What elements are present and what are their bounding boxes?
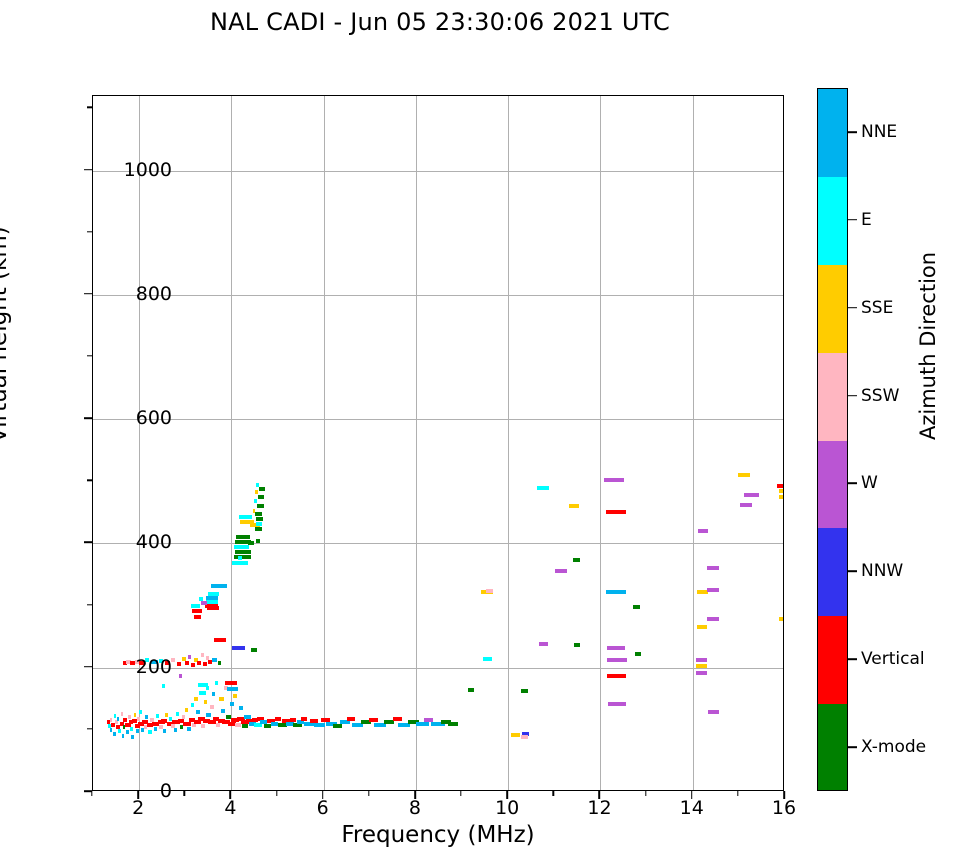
data-mark-x-mode xyxy=(333,724,342,728)
data-mark-w xyxy=(604,478,623,482)
data-mark-e xyxy=(198,683,208,687)
data-mark-x-mode xyxy=(635,652,641,656)
data-mark-vertical xyxy=(185,661,189,665)
x-tick-minor xyxy=(460,791,461,796)
data-mark-e xyxy=(176,712,179,716)
colorbar-segment-w[interactable] xyxy=(818,441,847,529)
data-mark-nne xyxy=(196,710,200,714)
x-tick-mark xyxy=(322,791,324,799)
data-mark-x-mode xyxy=(235,550,251,554)
data-mark-vertical xyxy=(194,615,200,619)
data-mark-sse xyxy=(185,708,188,712)
data-mark-e xyxy=(114,714,117,718)
x-tick-mark xyxy=(783,791,785,799)
y-tick-minor xyxy=(87,231,92,232)
colorbar-tick xyxy=(848,571,857,573)
data-mark-e xyxy=(256,483,259,487)
y-tick-minor xyxy=(87,107,92,108)
y-tick-mark xyxy=(84,666,92,668)
data-mark-nne xyxy=(117,717,120,721)
data-mark-e xyxy=(162,684,165,688)
data-mark-e xyxy=(139,710,142,714)
x-tick-mark xyxy=(137,791,139,799)
azimuth-colorbar[interactable] xyxy=(817,88,848,791)
data-mark-x-mode xyxy=(251,648,257,652)
data-mark-sse xyxy=(779,489,783,493)
colorbar-tick xyxy=(848,658,857,660)
data-mark-x-mode xyxy=(234,555,251,559)
colorbar-tick xyxy=(848,219,857,221)
y-tick-minor xyxy=(87,728,92,729)
data-mark-vertical xyxy=(777,484,783,488)
data-mark-e xyxy=(191,703,194,707)
data-mark-vertical xyxy=(183,722,190,726)
data-mark-x-mode xyxy=(255,512,261,516)
data-mark-sse xyxy=(511,733,520,737)
colorbar-segment-nne[interactable] xyxy=(818,89,847,177)
data-mark-vertical xyxy=(393,717,402,721)
y-tick-minor xyxy=(87,355,92,356)
data-mark-w xyxy=(744,493,759,497)
data-mark-x-mode xyxy=(259,487,265,491)
x-tick-label: 6 xyxy=(317,797,329,819)
data-mark-ssw xyxy=(201,653,204,657)
data-mark-e xyxy=(234,545,249,549)
data-mark-ssw xyxy=(486,589,492,593)
data-mark-sse xyxy=(255,490,258,494)
y-axis-label: Virtual height (km) xyxy=(0,226,12,443)
data-mark-e xyxy=(483,657,491,661)
data-mark-nne xyxy=(113,732,116,736)
data-mark-e xyxy=(148,730,151,734)
data-mark-e xyxy=(156,714,159,718)
colorbar-label-nne: NNE xyxy=(861,122,897,142)
data-mark-nne xyxy=(239,706,244,710)
data-mark-sse xyxy=(240,520,254,524)
data-mark-w xyxy=(555,569,567,573)
data-mark-sse xyxy=(779,617,783,621)
data-mark-sse xyxy=(165,713,168,717)
y-tick-label: 200 xyxy=(52,656,172,678)
data-mark-nne xyxy=(206,596,218,600)
data-mark-w xyxy=(539,642,548,646)
x-tick-minor xyxy=(553,791,554,796)
page-title: NAL CADI - Jun 05 23:30:06 2021 UTC xyxy=(0,8,880,36)
data-mark-x-mode xyxy=(248,541,254,545)
data-mark-ssw xyxy=(210,705,214,709)
x-tick-label: 10 xyxy=(495,797,519,819)
data-mark-ssw xyxy=(182,715,185,719)
x-tick-minor xyxy=(91,791,92,796)
data-mark-vertical xyxy=(347,717,355,721)
y-tick-label: 400 xyxy=(52,531,172,553)
data-mark-nne xyxy=(211,584,227,588)
data-mark-x-mode xyxy=(574,643,580,647)
data-mark-nne xyxy=(212,692,215,696)
data-mark-vertical xyxy=(208,720,215,724)
colorbar-label-x-mode: X-mode xyxy=(861,737,926,757)
data-mark-vertical xyxy=(369,718,378,722)
data-mark-x-mode xyxy=(242,724,248,728)
data-mark-x-mode xyxy=(573,558,580,562)
x-tick-label: 4 xyxy=(224,797,236,819)
data-mark-nne xyxy=(227,687,238,691)
data-mark-w xyxy=(740,503,752,507)
data-mark-e xyxy=(215,681,219,685)
x-tick-minor xyxy=(184,791,185,796)
data-mark-w xyxy=(698,529,708,533)
data-mark-ssw xyxy=(201,724,205,728)
data-mark-x-mode xyxy=(264,724,271,728)
data-mark-vertical xyxy=(192,609,202,613)
x-tick-label: 12 xyxy=(587,797,611,819)
colorbar-tick xyxy=(848,483,857,485)
colorbar-segment-vertical[interactable] xyxy=(818,616,847,704)
y-tick-label: 1000 xyxy=(52,159,172,181)
y-tick-label: 0 xyxy=(52,780,172,802)
data-mark-x-mode xyxy=(256,517,262,521)
colorbar-label-vertical: Vertical xyxy=(861,649,925,669)
data-mark-nne xyxy=(110,728,113,732)
data-mark-ssw xyxy=(521,735,527,739)
colorbar-label-ssw: SSW xyxy=(861,386,899,406)
data-mark-x-mode xyxy=(448,722,458,726)
x-tick-label: 16 xyxy=(772,797,796,819)
colorbar-segment-nnw[interactable] xyxy=(818,528,847,616)
x-tick-minor xyxy=(737,791,738,796)
data-mark-sse xyxy=(219,697,223,701)
y-tick-mark xyxy=(84,542,92,544)
data-mark-nnw xyxy=(232,646,245,650)
data-mark-nne xyxy=(122,734,125,738)
data-mark-ssw xyxy=(216,723,221,727)
data-mark-x-mode xyxy=(255,527,261,531)
data-mark-e xyxy=(537,486,549,490)
colorbar-label-e: E xyxy=(861,210,872,230)
y-tick-mark xyxy=(84,293,92,295)
data-mark-nne xyxy=(174,728,177,732)
x-tick-label: 2 xyxy=(132,797,144,819)
data-mark-x-mode xyxy=(180,725,184,729)
data-mark-x-mode xyxy=(236,535,250,539)
data-mark-e xyxy=(130,727,133,731)
data-mark-vertical xyxy=(191,663,196,667)
data-mark-w xyxy=(707,617,718,621)
y-tick-mark xyxy=(84,417,92,419)
data-mark-w xyxy=(201,601,207,605)
x-tick-label: 14 xyxy=(680,797,704,819)
colorbar-segment-x-mode[interactable] xyxy=(818,704,847,791)
data-mark-e xyxy=(208,592,219,596)
data-mark-e xyxy=(206,600,219,604)
data-mark-sse xyxy=(569,504,579,508)
data-mark-vertical xyxy=(207,606,219,610)
data-mark-ssw xyxy=(137,717,140,721)
data-mark-e xyxy=(191,604,200,608)
data-mark-vertical xyxy=(123,718,127,722)
data-mark-nne xyxy=(187,727,191,731)
colorbar-tick xyxy=(848,131,857,133)
data-mark-w xyxy=(607,658,627,662)
data-mark-w xyxy=(608,702,626,706)
colorbar-segment-sse[interactable] xyxy=(818,265,847,353)
colorbar-label-sse: SSE xyxy=(861,298,893,318)
data-mark-x-mode xyxy=(521,689,527,693)
data-mark-x-mode xyxy=(258,495,264,499)
data-mark-e xyxy=(254,499,257,503)
data-mark-vertical xyxy=(607,674,626,678)
data-mark-x-mode xyxy=(633,605,640,609)
data-mark-nne xyxy=(154,727,157,731)
colorbar-title: Azimuth Direction xyxy=(916,252,940,440)
data-mark-sse xyxy=(696,664,706,668)
x-tick-mark xyxy=(691,791,693,799)
data-mark-vertical xyxy=(225,681,237,685)
data-mark-nne xyxy=(416,722,429,726)
data-mark-sse xyxy=(779,495,783,499)
data-mark-e xyxy=(256,522,262,526)
data-mark-x-mode xyxy=(256,539,260,543)
data-mark-nne xyxy=(606,590,626,594)
data-mark-w xyxy=(188,655,191,659)
data-mark-vertical xyxy=(203,662,208,666)
colorbar-segment-e[interactable] xyxy=(818,177,847,265)
data-mark-nne xyxy=(145,715,148,719)
data-mark-x-mode xyxy=(468,688,474,692)
data-mark-nne xyxy=(136,729,139,733)
data-mark-vertical xyxy=(177,662,181,666)
data-layer xyxy=(93,96,783,790)
colorbar-label-nnw: NNW xyxy=(861,561,903,581)
data-mark-sse xyxy=(233,694,237,698)
data-mark-w xyxy=(707,566,719,570)
x-tick-mark xyxy=(506,791,508,799)
data-mark-vertical xyxy=(606,510,626,514)
data-mark-nne xyxy=(163,729,166,733)
data-mark-nne xyxy=(271,722,278,726)
data-mark-w xyxy=(708,710,719,714)
data-mark-vertical xyxy=(214,638,226,642)
data-mark-sse xyxy=(738,473,750,477)
data-mark-sse xyxy=(204,700,208,704)
data-mark-e xyxy=(199,597,203,601)
data-mark-sse xyxy=(194,697,197,701)
x-tick-minor xyxy=(645,791,646,796)
data-mark-nne xyxy=(212,658,217,662)
data-mark-sse xyxy=(253,509,256,513)
x-tick-mark xyxy=(599,791,601,799)
colorbar-tick xyxy=(848,746,857,748)
data-mark-w xyxy=(696,658,706,662)
data-mark-nne xyxy=(206,713,210,717)
data-mark-e xyxy=(199,691,206,695)
x-tick-label: 8 xyxy=(409,797,421,819)
data-mark-vertical xyxy=(290,718,296,722)
x-tick-minor xyxy=(368,791,369,796)
data-mark-nne xyxy=(131,735,134,739)
data-mark-e xyxy=(118,729,121,733)
y-tick-minor xyxy=(87,480,92,481)
colorbar-tick xyxy=(848,395,857,397)
colorbar-label-w: W xyxy=(861,473,878,493)
x-tick-minor xyxy=(276,791,277,796)
data-mark-nne xyxy=(297,720,304,724)
data-mark-nne xyxy=(230,702,235,706)
data-mark-w xyxy=(707,588,719,592)
y-tick-mark xyxy=(84,169,92,171)
data-mark-x-mode xyxy=(257,504,263,508)
data-mark-vertical xyxy=(194,720,201,724)
data-mark-w xyxy=(607,646,625,650)
data-mark-e xyxy=(232,561,248,565)
y-tick-minor xyxy=(87,604,92,605)
x-tick-mark xyxy=(230,791,232,799)
data-mark-vertical xyxy=(301,717,307,721)
data-mark-e xyxy=(239,515,252,519)
data-mark-e xyxy=(238,556,243,560)
ionogram-plot-area xyxy=(92,95,784,791)
y-tick-label: 800 xyxy=(52,283,172,305)
data-mark-nne xyxy=(221,709,225,713)
data-mark-ssw xyxy=(121,712,124,716)
y-tick-label: 600 xyxy=(52,407,172,429)
data-mark-ssw xyxy=(128,715,131,719)
data-mark-w xyxy=(179,674,182,678)
data-mark-nne xyxy=(314,723,324,727)
data-mark-x-mode xyxy=(218,661,221,665)
data-mark-sse xyxy=(697,625,707,629)
data-mark-vertical xyxy=(275,717,281,721)
data-mark-w xyxy=(696,671,706,675)
data-mark-sse xyxy=(134,713,137,717)
x-axis-label: Frequency (MHz) xyxy=(92,822,784,848)
data-mark-ssw xyxy=(110,718,113,722)
data-mark-vertical xyxy=(197,661,201,665)
data-mark-ssw xyxy=(115,720,118,724)
colorbar-segment-ssw[interactable] xyxy=(818,353,847,441)
data-mark-nne xyxy=(126,730,129,734)
x-tick-mark xyxy=(414,791,416,799)
colorbar-tick xyxy=(848,307,857,309)
